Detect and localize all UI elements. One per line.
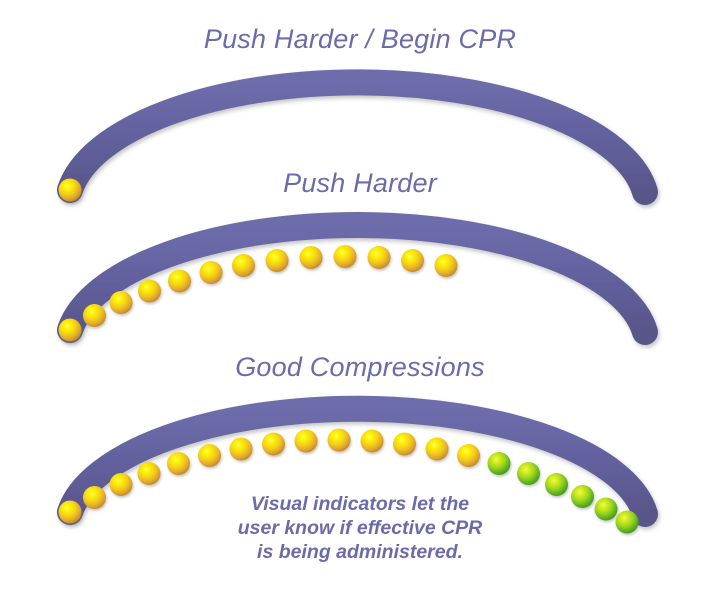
- indicator-ball-yellow: [266, 249, 289, 272]
- indicator-ball-yellow: [232, 254, 255, 277]
- indicator-ball-yellow: [295, 430, 318, 453]
- indicator-ball-green: [517, 462, 540, 485]
- arc-1-title: Push Harder / Begin CPR: [0, 24, 720, 55]
- indicator-ball-yellow: [138, 462, 161, 485]
- caption-block: Visual indicators let the user know if e…: [0, 492, 720, 564]
- indicator-ball-yellow: [300, 246, 323, 269]
- indicator-ball-yellow: [361, 430, 384, 453]
- diagram-canvas: Push Harder / Begin CPR Push Harder Good…: [0, 0, 720, 596]
- indicator-ball-yellow: [110, 291, 133, 314]
- indicator-ball-yellow: [168, 270, 191, 293]
- indicator-ball-yellow: [328, 429, 351, 452]
- indicator-ball-yellow: [334, 245, 357, 268]
- indicator-ball-yellow: [59, 319, 82, 342]
- indicator-ball-yellow: [368, 246, 391, 269]
- arc-3-title: Good Compressions: [0, 352, 720, 383]
- caption-line-1: Visual indicators let the: [0, 492, 720, 516]
- indicator-ball-yellow: [200, 261, 223, 284]
- indicator-ball-yellow: [435, 254, 458, 277]
- arc-push-harder: [59, 225, 646, 342]
- caption-line-3: is being administered.: [0, 540, 720, 564]
- indicator-ball-yellow: [230, 438, 253, 461]
- indicator-ball-yellow: [426, 438, 449, 461]
- indicator-ball-yellow: [457, 444, 480, 467]
- caption-line-2: user know if effective CPR: [0, 516, 720, 540]
- arc-track-2: [70, 225, 645, 332]
- indicator-ball-yellow: [393, 433, 416, 456]
- indicator-ball-yellow: [401, 249, 424, 272]
- indicator-ball-yellow: [83, 304, 106, 327]
- indicator-ball-green: [488, 452, 511, 475]
- indicator-ball-yellow: [167, 452, 190, 475]
- indicator-ball-yellow: [138, 280, 161, 303]
- arc-2-title: Push Harder: [0, 168, 720, 199]
- indicator-ball-yellow: [198, 444, 221, 467]
- arc-2-indicators: [59, 245, 458, 342]
- indicator-ball-yellow: [262, 433, 285, 456]
